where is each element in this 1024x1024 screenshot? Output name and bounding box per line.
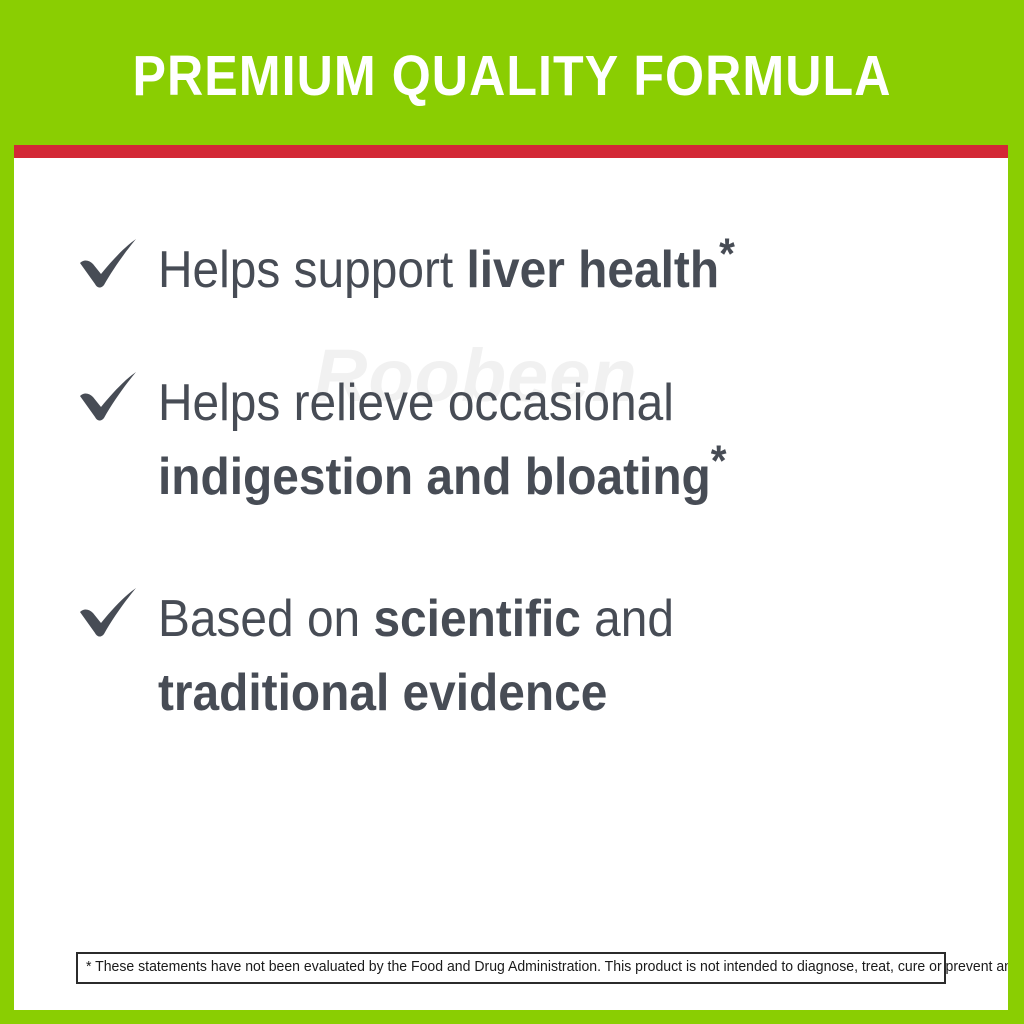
benefit-text: Helps relieve occasionalindigestion and … [158,366,885,514]
benefit-run: Based on [158,590,373,648]
red-accent-rule [14,145,1008,158]
disclaimer-box: * These statements have not been evaluat… [76,952,946,984]
benefit-line: indigestion and bloating* [158,448,727,506]
disclaimer-text: * These statements have not been evaluat… [86,959,911,976]
benefit-run: and [581,590,674,648]
header-band: PREMIUM QUALITY FORMULA [0,0,1024,145]
benefit-text: Based on scientific andtraditional evide… [158,582,885,730]
benefit-emphasis: indigestion and bloating [158,448,711,506]
benefit-text: Helps support liver health* [158,233,885,307]
checkmark-icon [76,233,138,291]
footnote-marker: * [719,230,735,279]
content-card: Roobeen Helps support liver health* Help… [14,158,1008,1010]
benefit-line: Helps relieve occasional [158,374,674,432]
footnote-marker: * [711,437,727,486]
benefit-run: Helps relieve occasional [158,374,674,432]
benefit-emphasis: liver health [466,241,719,299]
benefit-run: Helps support [158,241,466,299]
benefit-line: Helps support liver health* [158,241,735,299]
page-title: PREMIUM QUALITY FORMULA [61,44,962,108]
benefit-emphasis: scientific [373,590,580,648]
checkmark-icon [76,366,138,424]
benefit-line: Based on scientific and [158,590,674,648]
benefit-line: traditional evidence [158,664,607,722]
checkmark-icon [76,582,138,640]
benefit-emphasis: traditional evidence [158,664,607,722]
product-benefits-panel: PREMIUM QUALITY FORMULA Roobeen Helps su… [0,0,1024,1024]
